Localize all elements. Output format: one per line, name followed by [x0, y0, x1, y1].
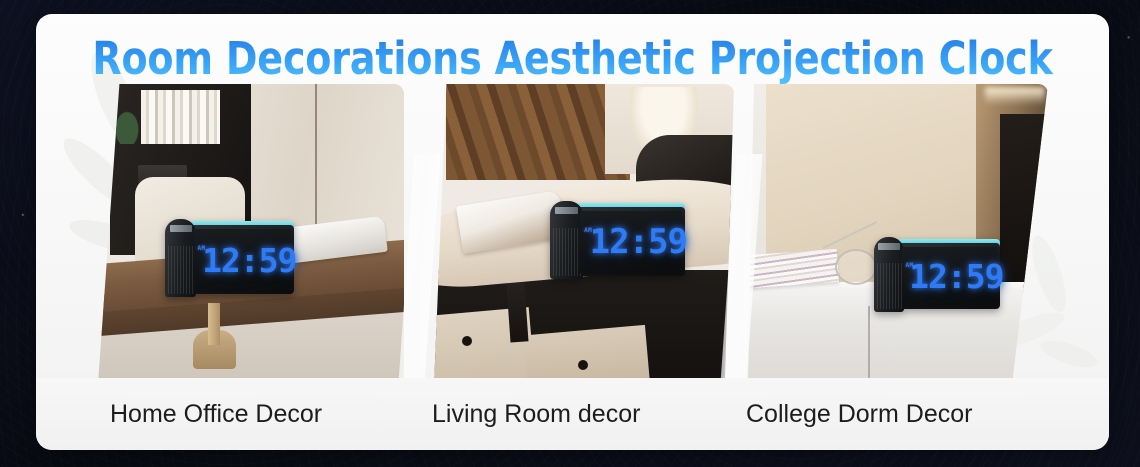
clock-ribs — [553, 228, 581, 276]
drawer-knob-left — [462, 336, 472, 346]
clock-ribs — [877, 263, 903, 310]
product-banner: Room Decorations Aesthetic Projection Cl… — [0, 0, 1140, 467]
drawer-knob-right — [578, 360, 588, 370]
caption-living-room: Living Room decor — [432, 378, 640, 450]
caption-band: Home Office Decor Living Room decor Coll… — [36, 378, 1109, 450]
page-title: Room Decorations Aesthetic Projection Cl… — [68, 32, 1077, 85]
clock-ribs — [168, 246, 195, 294]
table-pole — [208, 303, 220, 345]
clock-time: 12:59 — [595, 215, 681, 270]
plant — [113, 108, 141, 144]
scene-art-college-dorm: AM 12:59 — [748, 84, 1048, 384]
caption-college-dorm: College Dorm Decor — [746, 378, 972, 450]
clock-display: AM 12:59 — [902, 247, 998, 307]
dresser-seam — [868, 306, 870, 384]
scene-panel-home-office[interactable]: AM 12:59 — [98, 84, 404, 384]
projection-clock: AM 12:59 — [550, 201, 685, 279]
banner-card: Room Decorations Aesthetic Projection Cl… — [36, 14, 1109, 450]
books — [141, 90, 221, 144]
projection-clock: AM 12:59 — [874, 237, 1000, 312]
wood-floor — [446, 84, 630, 180]
cabinet-interior — [1000, 114, 1045, 288]
eyeglasses — [835, 249, 877, 285]
clock-display: AM 12:59 — [580, 211, 682, 273]
clock-time: 12:59 — [208, 233, 290, 288]
cabinet-light — [985, 87, 1045, 105]
scene-panel-college-dorm[interactable]: AM 12:59 — [748, 84, 1048, 384]
clock-time: 12:59 — [916, 250, 996, 303]
scene-art-living-room: AM 12:59 — [428, 84, 734, 384]
drawer-right — [523, 325, 651, 384]
scene-art-home-office: AM 12:59 — [98, 84, 404, 384]
scene-panel-living-room[interactable]: AM 12:59 — [428, 84, 734, 384]
clock-display: AM 12:59 — [194, 229, 292, 291]
magazine-stack — [748, 249, 839, 288]
panel-strip: AM 12:59 — [36, 84, 1109, 384]
projection-clock: AM 12:59 — [165, 219, 294, 297]
caption-home-office: Home Office Decor — [110, 378, 322, 450]
